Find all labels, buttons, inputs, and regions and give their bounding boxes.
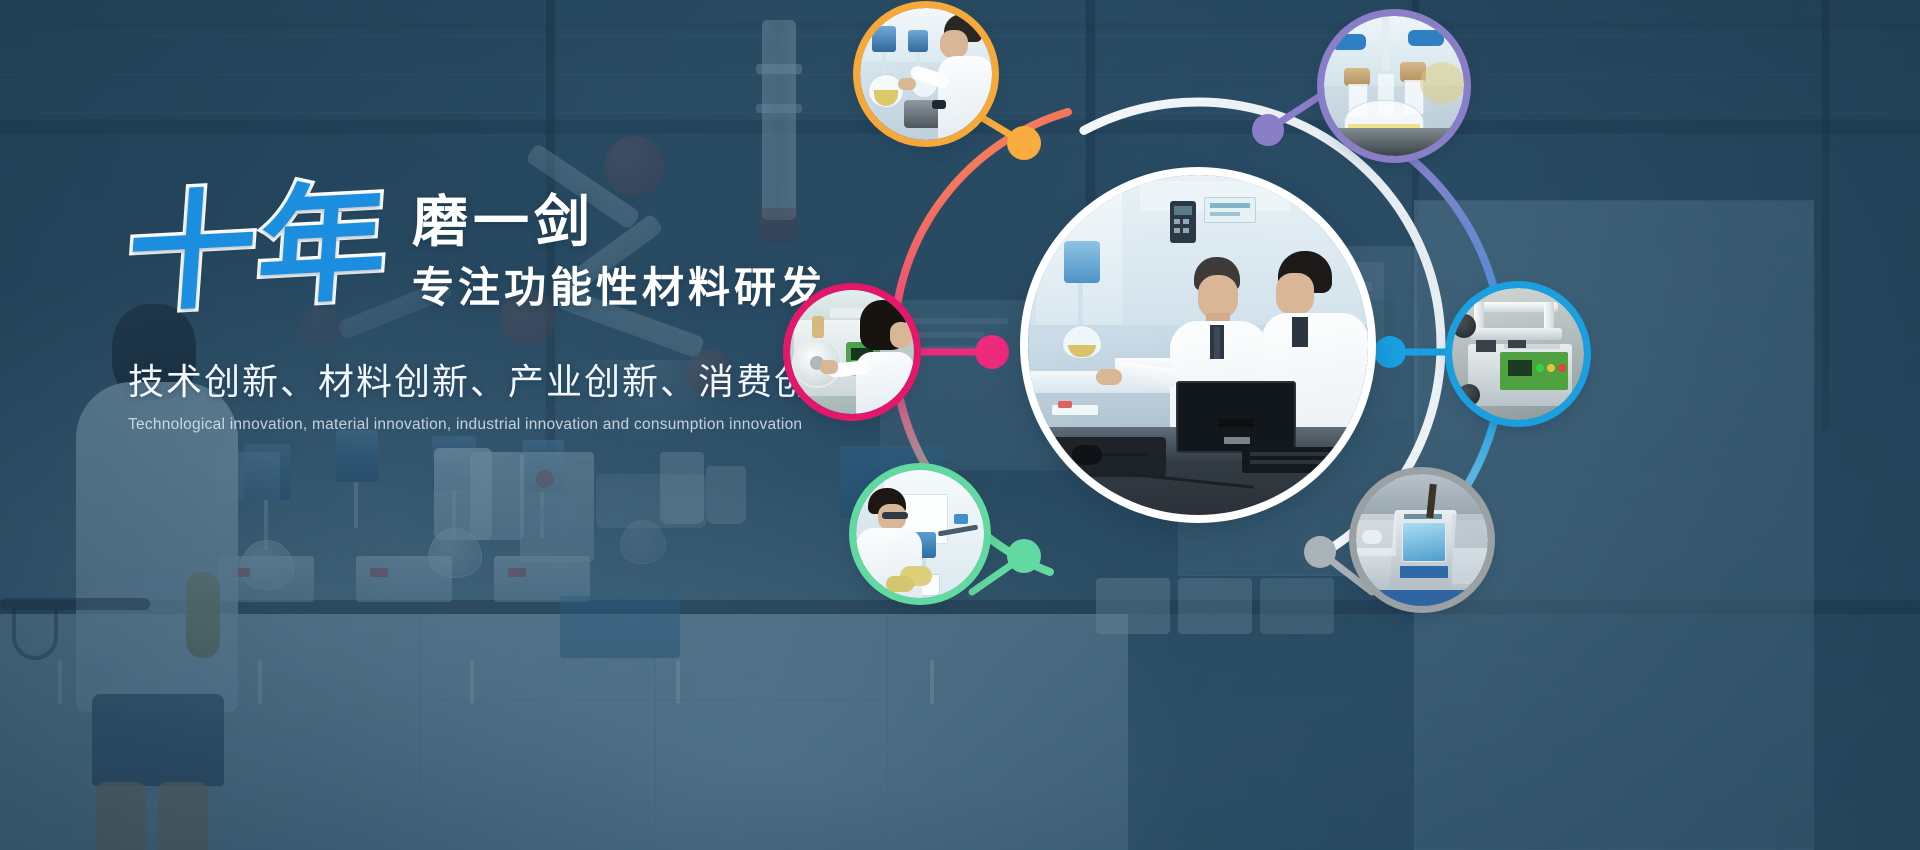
computer-mouse [1072, 445, 1102, 465]
clamp [1332, 34, 1366, 50]
circle-node-diagram [800, 0, 1920, 850]
stirrer-motor [1064, 241, 1100, 283]
wristwatch [932, 100, 946, 109]
dot-green [1007, 539, 1041, 573]
scientist [856, 300, 914, 414]
center-photo-circle[interactable] [1028, 175, 1368, 515]
calligraphy-title: 十年 [123, 179, 393, 320]
clamp [954, 514, 968, 524]
dot-pink [975, 335, 1009, 369]
screen-label [1400, 566, 1448, 578]
glove [886, 576, 914, 592]
stirrer-motor [908, 30, 928, 52]
scientist [856, 488, 932, 598]
knob [1458, 384, 1480, 406]
mouse-pad [1046, 437, 1166, 477]
dot-blue [1374, 336, 1406, 368]
dot-purple [1252, 114, 1284, 146]
node-gray-circle[interactable] [1356, 474, 1488, 606]
heating-bath [1324, 128, 1464, 156]
node-pink-circle[interactable] [790, 290, 914, 414]
hero-copy: 十年 磨一剑 专注功能性材料研发 技术创新、材料创新、产业创新、消费创新 Tec… [128, 186, 888, 435]
indicator-red [1558, 364, 1566, 372]
blue-base-panel [1380, 590, 1466, 606]
support-rod [1382, 16, 1389, 70]
node-green-circle[interactable] [856, 470, 984, 598]
dot-orange [1007, 126, 1041, 160]
scientist [938, 14, 992, 140]
headline-row: 十年 磨一剑 专注功能性材料研发 [128, 186, 888, 314]
test-arm [1470, 328, 1562, 340]
knob [1452, 314, 1476, 338]
monitor-logo [1224, 437, 1250, 444]
clamp [1408, 30, 1444, 46]
stirrer-motor [872, 26, 896, 52]
instrument-screen [1402, 522, 1446, 562]
subtitle-chinese: 技术创新、材料创新、产业创新、消费创新 [128, 360, 888, 403]
node-orange-circle[interactable] [860, 8, 992, 140]
headline-column: 磨一剑 专注功能性材料研发 [412, 186, 826, 312]
control-panel-sign [1204, 197, 1256, 223]
dot-gray [1304, 536, 1336, 568]
headline-line-1: 磨一剑 [412, 192, 826, 251]
hero-banner: 十年 磨一剑 专注功能性材料研发 技术创新、材料创新、产业创新、消费创新 Tec… [0, 0, 1920, 850]
indicator-yellow [1547, 364, 1555, 372]
headline-line-2: 专注功能性材料研发 [412, 265, 826, 311]
safety-glasses [882, 512, 908, 519]
subtitle-english: Technological innovation, material innov… [128, 415, 888, 434]
indicator-green [1536, 364, 1544, 372]
node-purple-circle[interactable] [1324, 16, 1464, 156]
node-blue-circle[interactable] [1452, 288, 1584, 420]
